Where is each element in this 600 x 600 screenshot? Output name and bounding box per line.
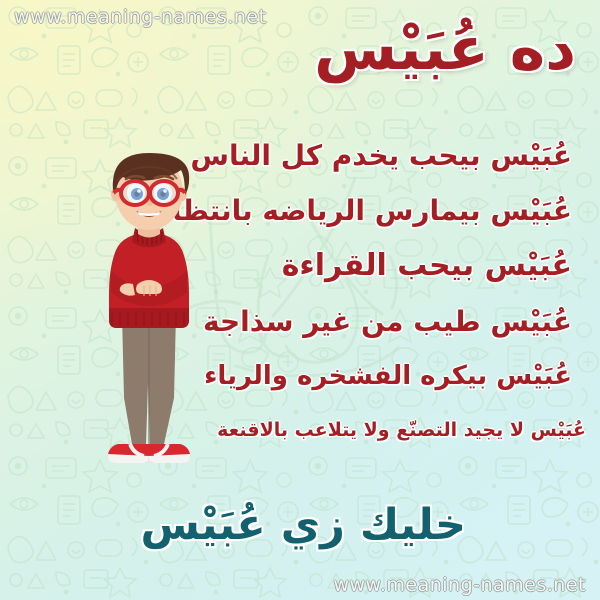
page-title: ده عُبَيْس bbox=[314, 14, 576, 85]
slogan-text: خليك زي عُبَيْس bbox=[140, 500, 466, 550]
shoes-shape bbox=[108, 444, 190, 463]
watermark-bottom: www.meaning-names.net bbox=[333, 574, 586, 596]
sweater-shape bbox=[109, 228, 189, 328]
name-meaning-card: www.meaning-names.net www.meaning-names.… bbox=[0, 0, 600, 600]
character-illustration bbox=[78, 148, 220, 470]
pants-shape bbox=[122, 314, 176, 444]
watermark-top: www.meaning-names.net bbox=[14, 6, 267, 28]
